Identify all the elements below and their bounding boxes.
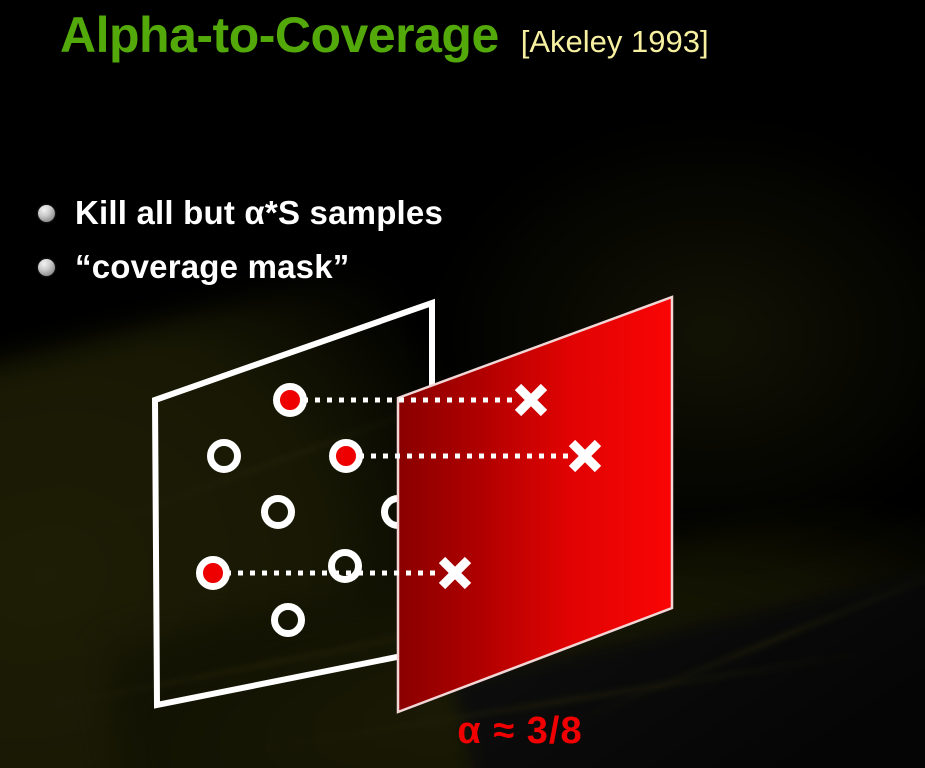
sample-6 bbox=[200, 560, 227, 587]
sample-killed-icon bbox=[211, 443, 238, 470]
sample-covered-icon bbox=[200, 560, 227, 587]
sample-points-group bbox=[200, 387, 412, 634]
sample-4 bbox=[265, 499, 292, 526]
sample-3 bbox=[333, 443, 360, 470]
sample-covered-icon bbox=[333, 443, 360, 470]
sample-killed-icon bbox=[275, 607, 302, 634]
alpha-to-coverage-diagram bbox=[0, 0, 925, 768]
sample-killed-icon bbox=[265, 499, 292, 526]
sample-8 bbox=[275, 607, 302, 634]
alpha-value-caption: α ≈ 3/8 bbox=[0, 710, 925, 753]
sample-1 bbox=[277, 387, 304, 414]
sample-covered-icon bbox=[277, 387, 304, 414]
slide-canvas: Alpha-to-Coverage [Akeley 1993] Kill all… bbox=[0, 0, 925, 768]
coverage-plane bbox=[398, 297, 672, 712]
sample-2 bbox=[211, 443, 238, 470]
